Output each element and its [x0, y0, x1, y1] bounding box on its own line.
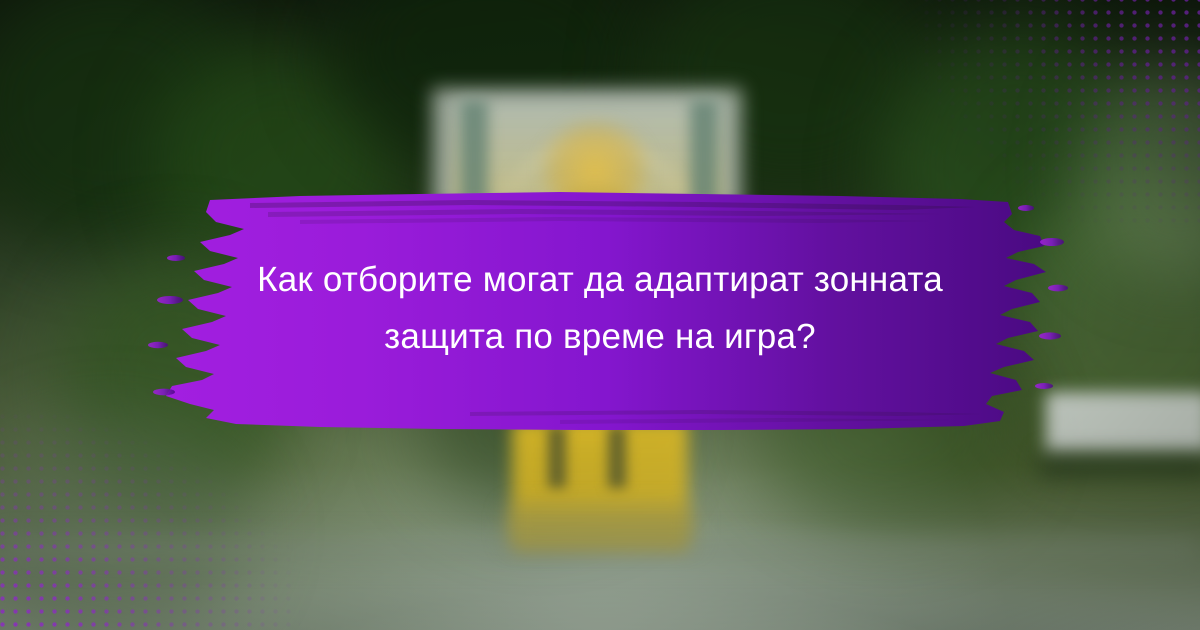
- quote-line-2: защита по време на игра?: [170, 309, 1030, 366]
- quote-line-1: Как отборите могат да адаптират зонната: [170, 252, 1030, 309]
- quote-text: Как отборите могат да адаптират зонната …: [170, 252, 1030, 365]
- banner-container: Как отборите могат да адаптират зонната …: [0, 0, 1200, 630]
- quote-card: Как отборите могат да адаптират зонната …: [0, 0, 1200, 630]
